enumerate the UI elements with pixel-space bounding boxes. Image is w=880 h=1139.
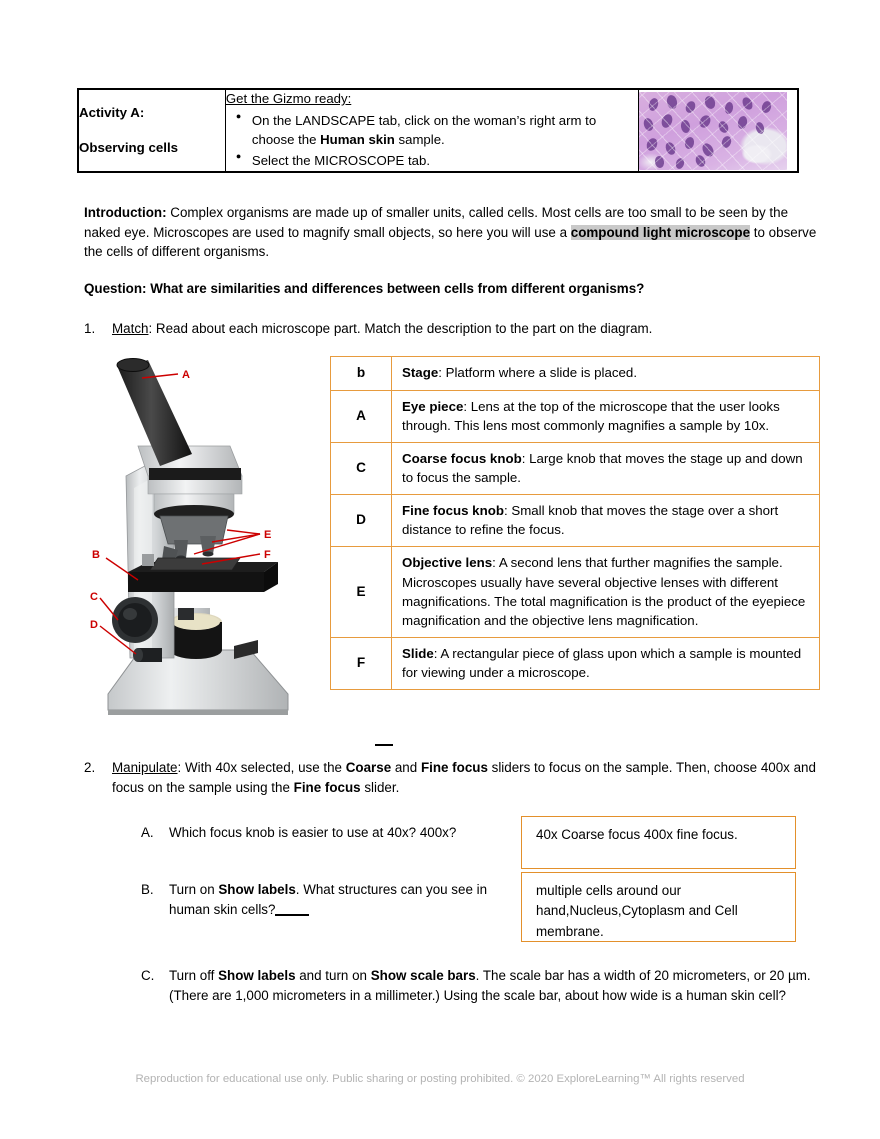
bullet1-post: sample. xyxy=(395,132,445,147)
microscope-parts-table: b Stage: Platform where a slide is place… xyxy=(330,356,820,690)
gizmo-instructions-cell: Get the Gizmo ready: On the LANDSCAPE ta… xyxy=(225,89,638,172)
micrograph-cell xyxy=(639,89,798,172)
bullet2-text: Select the MICROSCOPE tab. xyxy=(252,153,430,168)
part-description: Stage: Platform where a slide is placed. xyxy=(392,357,820,391)
activity-label-cell: Activity A: Observing cells xyxy=(78,89,225,172)
microscope-diagram: A E B F C D xyxy=(82,358,318,736)
human-skin-micrograph-image xyxy=(639,92,787,170)
subquestion-a: A.Which focus knob is easier to use at 4… xyxy=(141,823,511,843)
part-term: Fine focus knob xyxy=(402,503,504,518)
subquestion-a-letter: A. xyxy=(141,823,165,843)
compound-light-microscope-highlight: compound light microscope xyxy=(571,225,750,240)
label-C: C xyxy=(90,591,98,603)
table-row: E Objective lens: A second lens that fur… xyxy=(331,547,820,638)
label-F: F xyxy=(264,549,271,561)
label-A: A xyxy=(182,369,190,381)
list-item: On the LANDSCAPE tab, click on the woman… xyxy=(252,111,638,149)
item-2-bold-fine-focus: Fine focus xyxy=(421,760,488,775)
subquestion-c-bold-show-scale-bars: Show scale bars xyxy=(371,968,476,983)
answer-box-a[interactable]: 40x Coarse focus 400x fine focus. xyxy=(521,816,796,869)
document-page: Activity A: Observing cells Get the Gizm… xyxy=(0,0,880,1139)
part-key: C xyxy=(331,442,392,494)
list-item: Select the MICROSCOPE tab. xyxy=(252,151,638,170)
part-term: Stage xyxy=(402,365,438,380)
fill-in-blank[interactable] xyxy=(275,914,309,916)
item-1-text: : Read about each microscope part. Match… xyxy=(148,321,652,336)
table-row: F Slide: A rectangular piece of glass up… xyxy=(331,637,820,689)
activity-header-table: Activity A: Observing cells Get the Gizm… xyxy=(77,88,799,173)
item-2-text-1: : With 40x selected, use the xyxy=(178,760,346,775)
item-2: 2.Manipulate: With 40x selected, use the… xyxy=(84,758,828,797)
part-term: Eye piece xyxy=(402,399,463,414)
item-2-keyword: Manipulate xyxy=(112,760,178,775)
subquestion-a-text: Which focus knob is easier to use at 40x… xyxy=(169,825,456,840)
part-term: Slide xyxy=(402,646,434,661)
item-1-keyword: Match xyxy=(112,321,148,336)
part-key: F xyxy=(331,637,392,689)
item-2-number: 2. xyxy=(84,758,106,778)
subquestion-c-text-1: Turn off xyxy=(169,968,218,983)
label-E: E xyxy=(264,529,271,541)
part-text: : A rectangular piece of glass upon whic… xyxy=(402,646,801,680)
activity-header-row: Activity A: Observing cells Get the Gizm… xyxy=(78,89,798,172)
label-D: D xyxy=(90,619,98,631)
subquestion-c-bold-show-labels: Show labels xyxy=(218,968,295,983)
subquestion-b-bold-show-labels: Show labels xyxy=(218,882,295,897)
activity-title: Activity A: xyxy=(79,104,225,123)
question-line: Question: What are similarities and diff… xyxy=(84,279,828,299)
stray-underline-mark xyxy=(375,744,393,746)
introduction-paragraph: Introduction: Complex organisms are made… xyxy=(84,203,828,262)
gizmo-ready-heading: Get the Gizmo ready: xyxy=(226,90,638,109)
activity-subtitle: Observing cells xyxy=(79,139,225,158)
subquestion-b-letter: B. xyxy=(141,880,165,900)
part-key: D xyxy=(331,495,392,547)
table-row: A Eye piece: Lens at the top of the micr… xyxy=(331,390,820,442)
part-description: Eye piece: Lens at the top of the micros… xyxy=(392,390,820,442)
subquestion-b-text-1: Turn on xyxy=(169,882,218,897)
answer-box-b[interactable]: multiple cells around our hand,Nucleus,C… xyxy=(521,872,796,942)
micrograph-cell-mesh xyxy=(639,92,787,170)
subquestion-c: C. Turn off Show labels and turn on Show… xyxy=(141,966,831,1006)
item-1-number: 1. xyxy=(84,319,106,339)
part-term: Objective lens xyxy=(402,555,492,570)
bullet1-bold: Human skin xyxy=(320,132,395,147)
part-text: : Platform where a slide is placed. xyxy=(438,365,637,380)
introduction-label: Introduction: xyxy=(84,205,167,220)
part-description: Slide: A rectangular piece of glass upon… xyxy=(392,637,820,689)
part-term: Coarse focus knob xyxy=(402,451,522,466)
table-row: D Fine focus knob: Small knob that moves… xyxy=(331,495,820,547)
item-2-text-2: and xyxy=(391,760,421,775)
subquestion-b: B.Turn on Show labels. What structures c… xyxy=(141,880,511,920)
gizmo-instruction-list: On the LANDSCAPE tab, click on the woman… xyxy=(226,111,638,170)
part-key: A xyxy=(331,390,392,442)
subquestion-c-letter: C. xyxy=(141,966,165,986)
item-1: 1.Match: Read about each microscope part… xyxy=(84,319,828,339)
page-footer: Reproduction for educational use only. P… xyxy=(0,1071,880,1087)
subquestion-c-text-2: and turn on xyxy=(296,968,371,983)
part-description: Objective lens: A second lens that furth… xyxy=(392,547,820,638)
item-2-bold-coarse: Coarse xyxy=(346,760,391,775)
part-key: b xyxy=(331,357,392,391)
part-key: E xyxy=(331,547,392,638)
part-description: Coarse focus knob: Large knob that moves… xyxy=(392,442,820,494)
part-description: Fine focus knob: Small knob that moves t… xyxy=(392,495,820,547)
table-row: b Stage: Platform where a slide is place… xyxy=(331,357,820,391)
item-2-text-4: slider. xyxy=(361,780,400,795)
label-B: B xyxy=(92,549,100,561)
table-row: C Coarse focus knob: Large knob that mov… xyxy=(331,442,820,494)
item-2-bold-fine-focus-2: Fine focus xyxy=(294,780,361,795)
